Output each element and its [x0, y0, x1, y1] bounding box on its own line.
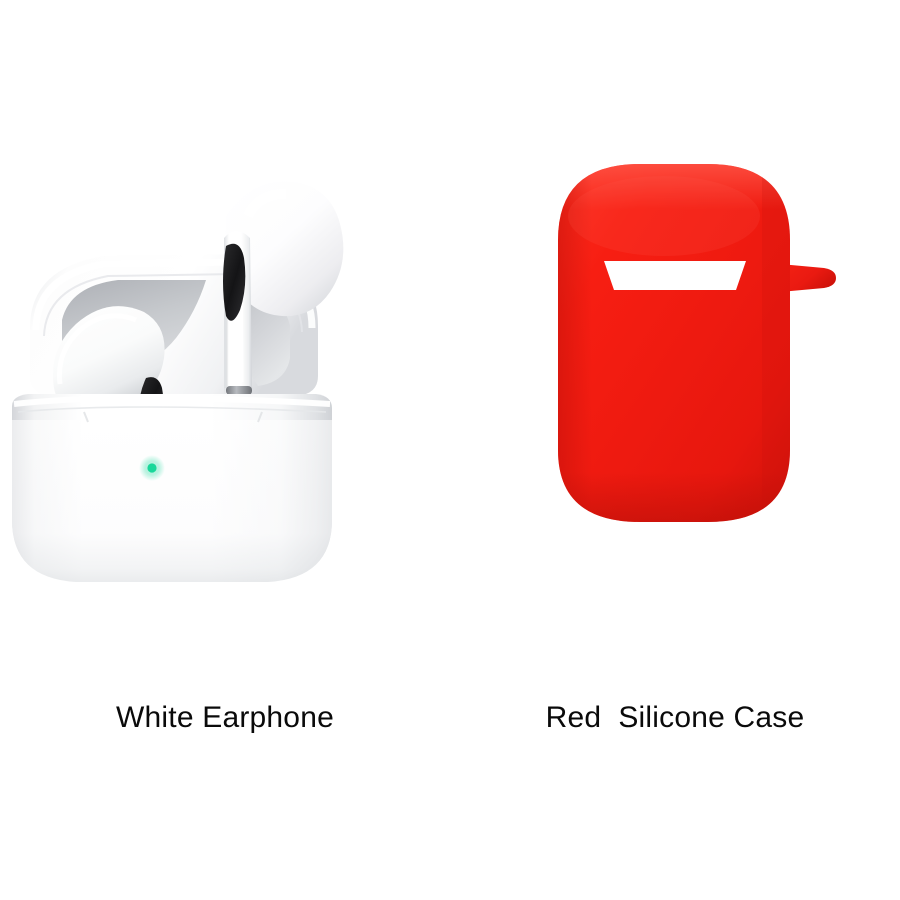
white-earphone-illustration [0, 120, 450, 680]
red-silicone-case-illustration [450, 120, 900, 680]
product-image-red-silicone-case[interactable] [450, 120, 900, 680]
silicone-case-body [558, 164, 790, 522]
product-variant-grid: White Earphone [0, 0, 900, 900]
product-card-red-silicone-case[interactable]: Red Silicone Case [450, 120, 900, 760]
product-label-white-earphone: White Earphone [0, 700, 450, 736]
status-led-indicator [147, 463, 156, 472]
earbud-charging-contact [226, 386, 252, 395]
case-front-slot [604, 261, 746, 290]
charging-case-body [12, 394, 332, 582]
product-image-white-earphone[interactable] [0, 120, 450, 680]
product-card-white-earphone[interactable]: White Earphone [0, 120, 450, 760]
product-label-red-silicone-case: Red Silicone Case [450, 700, 900, 736]
